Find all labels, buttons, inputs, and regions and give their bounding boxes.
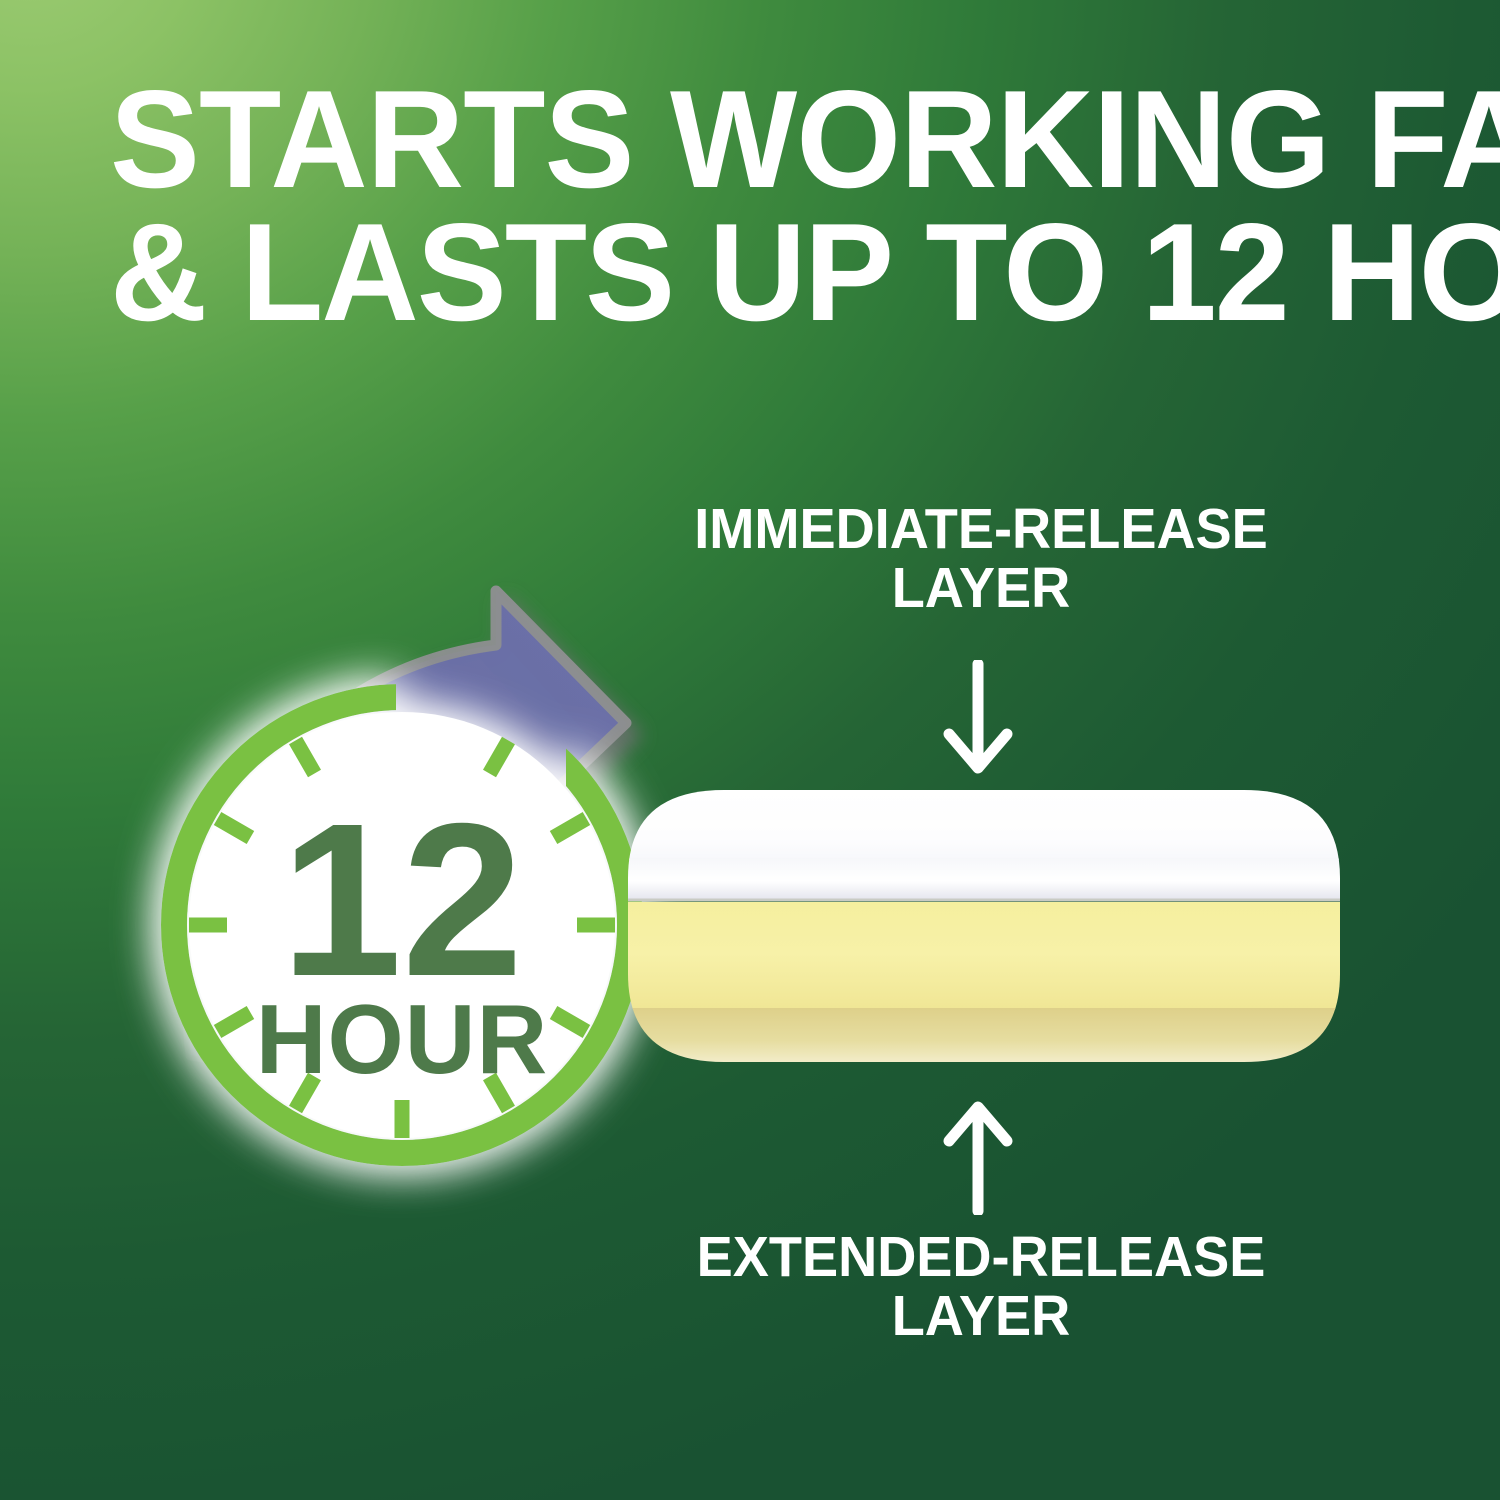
arrow-down-icon [943, 660, 1013, 780]
callout-bottom-line-1: EXTENDED-RELEASE [653, 1228, 1309, 1287]
infographic-canvas: STARTS WORKING FAST & LASTS UP TO 12 HOU… [0, 0, 1500, 1500]
page-title: STARTS WORKING FAST & LASTS UP TO 12 HOU… [110, 74, 1390, 339]
headline-line-1: STARTS WORKING FAST [110, 74, 1390, 207]
bilayer-tablet-graphic [628, 790, 1340, 1062]
callout-immediate-release: IMMEDIATE-RELEASE LAYER [653, 500, 1309, 617]
extended-release-layer [628, 902, 1340, 1010]
extended-release-bevel [628, 1008, 1340, 1062]
headline-line-2: & LASTS UP TO 12 HOURS [110, 207, 1390, 340]
callout-extended-release: EXTENDED-RELEASE LAYER [653, 1228, 1309, 1345]
arrow-up-icon [943, 1095, 1013, 1215]
immediate-release-layer [628, 790, 1340, 860]
callout-bottom-line-2: LAYER [653, 1287, 1309, 1346]
callout-top-line-2: LAYER [653, 559, 1309, 618]
clock-unit: HOUR [256, 984, 549, 1094]
immediate-release-bevel [628, 858, 1340, 900]
callout-top-line-1: IMMEDIATE-RELEASE [653, 500, 1309, 559]
